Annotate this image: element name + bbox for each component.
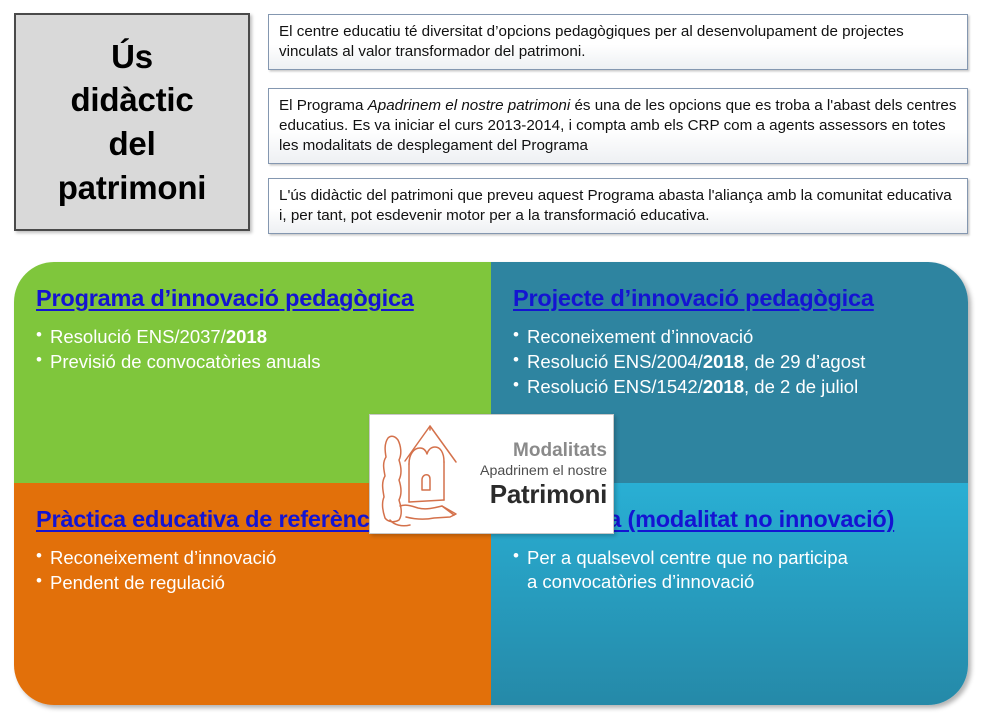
callout-box-3: L'ús didàctic del patrimoni que preveu a… (268, 178, 968, 234)
logo-apadrinem-label: Apadrinem el nostre (480, 464, 607, 480)
title-line-3: del (108, 122, 155, 166)
item-text-bold: 2018 (703, 351, 744, 372)
castle-line-drawing-icon (370, 415, 466, 533)
callout-1-text: El centre educatiu té diversitat d’opcio… (279, 23, 904, 60)
item-text-pre: Pendent de regulació (50, 572, 225, 593)
item-text-pre: Reconeixement d’innovació (527, 326, 753, 347)
header-area: Ús didàctic del patrimoni El centre educ… (0, 0, 982, 250)
modalitats-logo-card: Modalitats Apadrinem el nostre Patrimoni (369, 414, 614, 534)
quadrant-tr-heading[interactable]: Projecte d’innovació pedagògica (513, 286, 946, 312)
list-item: Resolució ENS/2004/2018, de 29 d’agost (513, 350, 946, 374)
item-text-pre: Resolució ENS/1542/ (527, 376, 703, 397)
list-item: Pendent de regulació (36, 571, 469, 595)
item-text-bold: 2018 (226, 326, 267, 347)
logo-modalitats-label: Modalitats (513, 440, 607, 461)
item-text-pre: Previsió de convocatòries anuals (50, 351, 320, 372)
list-item: Reconeixement d’innovació (36, 546, 469, 570)
list-item: Reconeixement d’innovació (513, 325, 946, 349)
callout-box-1: El centre educatiu té diversitat d’opcio… (268, 14, 968, 70)
quadrant-br-list: Per a qualsevol centre que no participa … (513, 546, 946, 594)
quadrant-tl-heading[interactable]: Programa d’innovació pedagògica (36, 286, 469, 312)
callout-2-text-italic: Apadrinem el nostre patrimoni (368, 97, 571, 114)
quadrant-bl-list: Reconeixement d’innovació Pendent de reg… (36, 546, 469, 595)
item-text-pre: Resolució ENS/2004/ (527, 351, 703, 372)
title-line-2: didàctic (70, 78, 193, 122)
quadrant-tl-list: Resolució ENS/2037/2018 Previsió de conv… (36, 325, 469, 374)
callout-3-text: L'ús didàctic del patrimoni que preveu a… (279, 187, 952, 224)
item-text-post: , de 2 de juliol (744, 376, 858, 397)
list-item: Per a qualsevol centre que no participa … (513, 546, 857, 594)
callout-2-text-pre: El Programa (279, 97, 368, 114)
item-text-pre: Resolució ENS/2037/ (50, 326, 226, 347)
quadrant-tr-list: Reconeixement d’innovació Resolució ENS/… (513, 325, 946, 399)
title-line-1: Ús (111, 35, 153, 79)
title-card: Ús didàctic del patrimoni (14, 13, 250, 231)
list-item: Resolució ENS/2037/2018 (36, 325, 469, 349)
item-text-bold: 2018 (703, 376, 744, 397)
list-item: Previsió de convocatòries anuals (36, 350, 469, 374)
item-text-post: , de 29 d’agost (744, 351, 865, 372)
callout-box-2: El Programa Apadrinem el nostre patrimon… (268, 88, 968, 164)
list-item: Resolució ENS/1542/2018, de 2 de juliol (513, 375, 946, 399)
logo-text-block: Modalitats Apadrinem el nostre Patrimoni (466, 415, 613, 533)
logo-patrimoni-label: Patrimoni (490, 480, 607, 508)
item-text-pre: Per a qualsevol centre que no participa … (527, 547, 848, 592)
item-text-pre: Reconeixement d’innovació (50, 547, 276, 568)
title-line-4: patrimoni (58, 166, 207, 210)
